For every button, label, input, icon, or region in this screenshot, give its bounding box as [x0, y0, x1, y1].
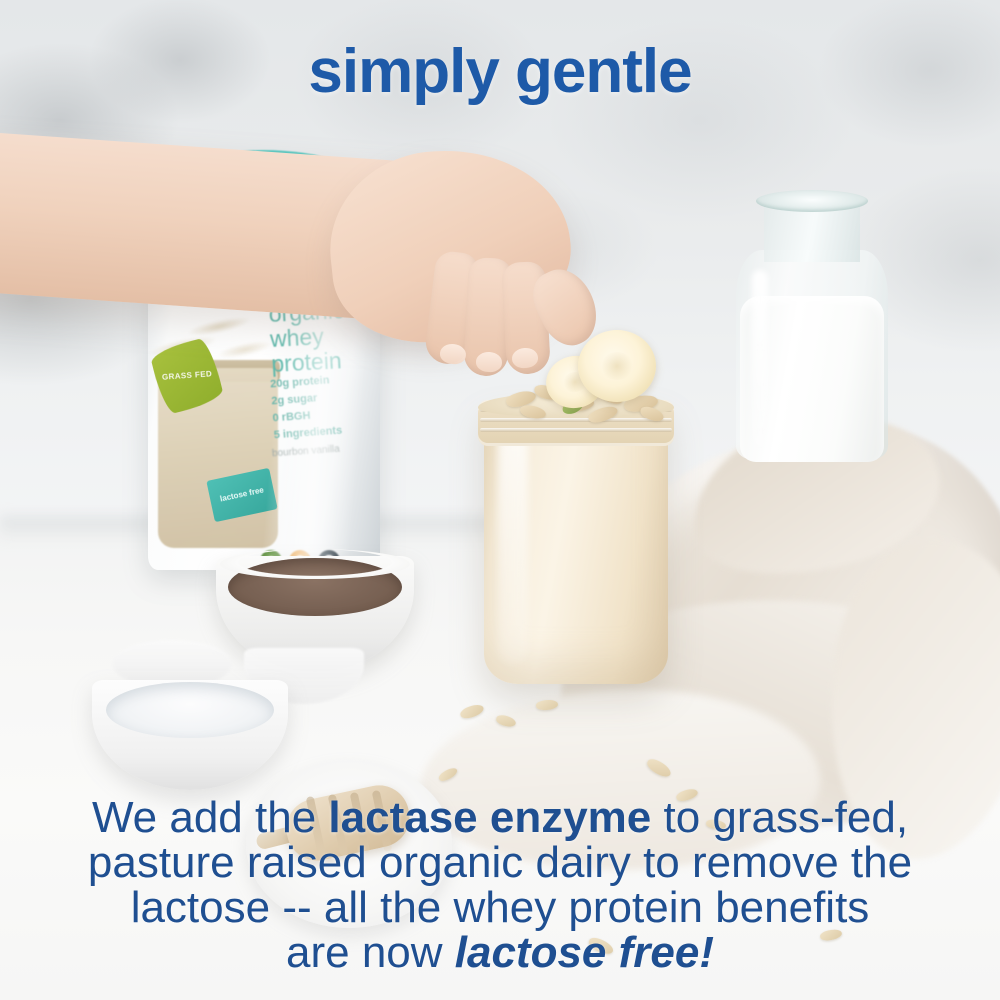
milk-bottle-highlight: [752, 270, 768, 450]
body-copy: We add the lactase enzyme to grass-fed, …: [0, 795, 1000, 975]
mason-jar-thread: [480, 418, 672, 422]
body-copy-emphasis-lactose-free: lactose free!: [455, 928, 714, 977]
banana-slice: [578, 330, 656, 402]
body-copy-line-1-a: We add the: [92, 793, 328, 842]
mason-jar-thread: [480, 428, 672, 432]
body-copy-line-2: pasture raised organic dairy to remove t…: [0, 840, 1000, 885]
fingernail: [475, 351, 502, 372]
body-copy-line-4: are now lactose free!: [0, 930, 1000, 975]
nut-butter-bowl-rim: [220, 549, 410, 579]
promo-image: grass fed simply tera's lactose free org…: [0, 0, 1000, 1000]
body-copy-emphasis-lactase-enzyme: lactase enzyme: [328, 793, 651, 842]
body-copy-line-4-a: are now: [286, 928, 455, 977]
body-copy-line-1: We add the lactase enzyme to grass-fed,: [0, 795, 1000, 840]
milk-bottle-rim: [756, 190, 868, 212]
page-title: simply gentle: [0, 36, 1000, 107]
body-copy-line-3: lactose -- all the whey protein benefits: [0, 885, 1000, 930]
powder-bowl-contents: [106, 682, 274, 738]
mason-jar-highlight: [498, 414, 528, 664]
mason-jar-smoothie: [484, 404, 668, 684]
body-copy-line-1-c: to grass-fed,: [651, 793, 908, 842]
